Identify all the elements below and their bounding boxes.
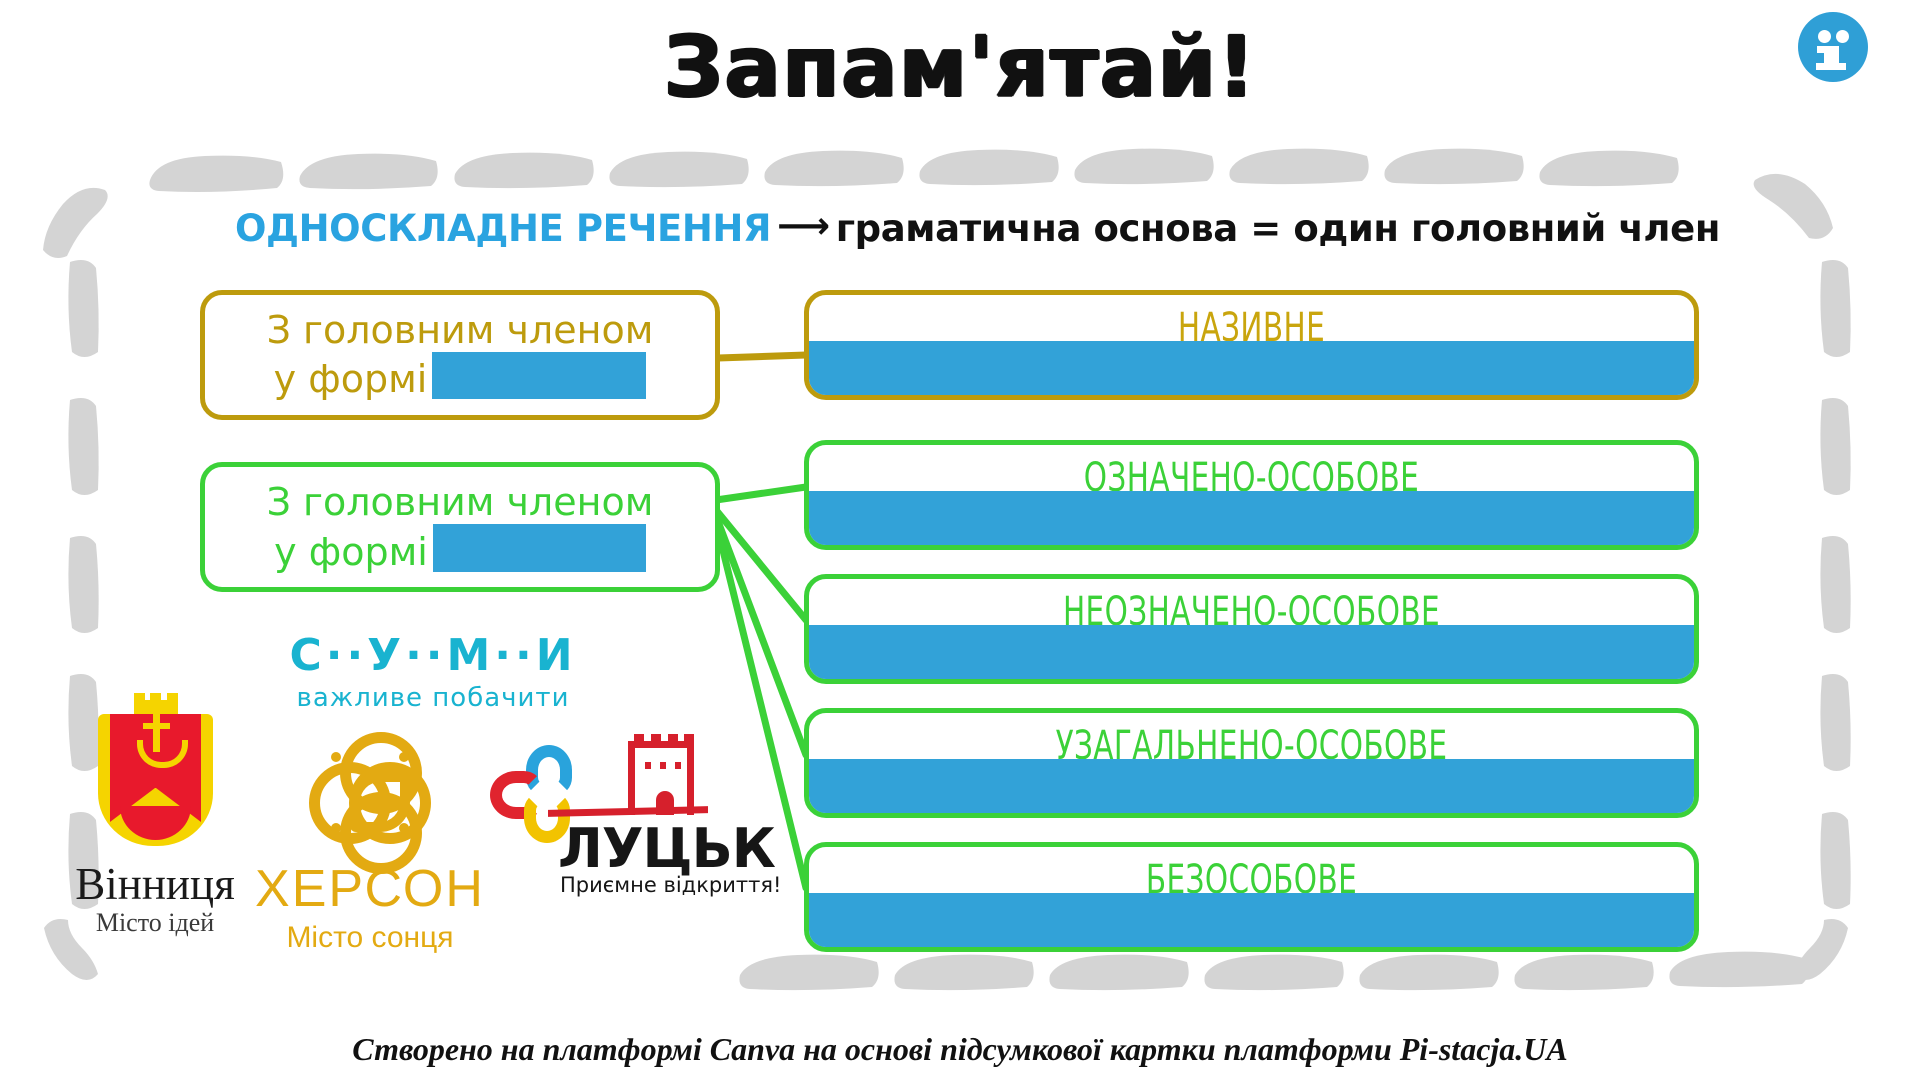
left-box-green-text: З головним членом у формі	[267, 481, 654, 574]
subtitle-row: ОДНОСКЛАДНЕ РЕЧЕННЯ⟶граматична основа = …	[235, 207, 1720, 250]
left-box-green-line1: З головним членом	[267, 480, 654, 524]
logo-vinnytsia-title: Вінниця	[30, 858, 280, 910]
left-box-gold: З головним членом у формі	[200, 290, 720, 420]
right-box-neoznacheno: НЕОЗНАЧЕНО-ОСОБОВЕ	[804, 574, 1699, 684]
left-box-green-line2: у формі	[274, 530, 428, 574]
right-box-nazyvne: НАЗИВНЕ	[804, 290, 1699, 400]
redaction-block-bezosobove	[804, 893, 1699, 952]
logo-kherson: ХЕРСОН Місто сонця	[245, 730, 495, 955]
right-box-oznacheno: ОЗНАЧЕНО-ОСОБОВЕ	[804, 440, 1699, 550]
vinnytsia-anchor-icon	[141, 712, 171, 764]
connector-gold	[718, 355, 806, 358]
redaction-block-green-left	[433, 524, 646, 572]
info-dot-left	[1818, 30, 1831, 43]
left-box-green: З головним членом у формі	[200, 462, 720, 592]
redaction-block-nazyvne	[804, 341, 1699, 400]
logo-vinnytsia: Вінниця Місто ідей	[30, 700, 280, 938]
left-box-gold-text: З головним членом у формі	[267, 309, 654, 401]
arrow-icon: ⟶	[771, 204, 836, 247]
subtitle-rest: граматична основа = один головний член	[836, 207, 1720, 250]
left-box-gold-line2: у формі	[274, 357, 428, 401]
logo-lutsk: ЛУЦЬК Приємне відкриття!	[490, 745, 750, 910]
footer-attribution: Створено на платформі Canva на основі пі…	[0, 1031, 1920, 1068]
info-dot-right	[1836, 30, 1849, 43]
connector-green-2	[716, 510, 806, 620]
redaction-block-gold-left	[432, 352, 646, 399]
redaction-block-neoznacheno	[804, 625, 1699, 684]
connector-green-3	[716, 516, 806, 755]
right-box-bezosobove: БЕЗОСОБОВЕ	[804, 842, 1699, 952]
logo-sumy-subtitle: важливе побачити	[258, 683, 608, 713]
logo-vinnytsia-subtitle: Місто ідей	[30, 908, 280, 938]
logo-lutsk-title: ЛУЦЬК	[558, 817, 775, 880]
logo-sumy-title: С··У··М··И	[258, 630, 608, 681]
info-stem	[1824, 46, 1839, 70]
redaction-block-uzahalneno	[804, 759, 1699, 818]
logo-sumy: С··У··М··И важливе побачити	[258, 630, 608, 713]
redaction-block-oznacheno	[804, 491, 1699, 550]
page-title: Запам'ятай!	[0, 18, 1920, 116]
logo-lutsk-subtitle: Приємне відкриття!	[560, 873, 781, 897]
lutsk-tower-icon	[628, 741, 694, 815]
vinnytsia-coat-of-arms-icon	[98, 700, 213, 850]
kherson-ornament-icon	[305, 730, 435, 855]
left-box-gold-line1: З головним членом	[267, 308, 654, 352]
info-badge-icon[interactable]	[1798, 12, 1868, 82]
right-box-uzahalneno: УЗАГАЛЬНЕНО-ОСОБОВЕ	[804, 708, 1699, 818]
slide-canvas: Запам'ятай! ОДНОСКЛАДНЕ РЕЧЕННЯ⟶граматич…	[0, 0, 1920, 1080]
subtitle-highlight: ОДНОСКЛАДНЕ РЕЧЕННЯ	[235, 207, 771, 250]
logo-kherson-subtitle: Місто сонця	[245, 921, 495, 955]
connector-green-1	[716, 487, 806, 500]
